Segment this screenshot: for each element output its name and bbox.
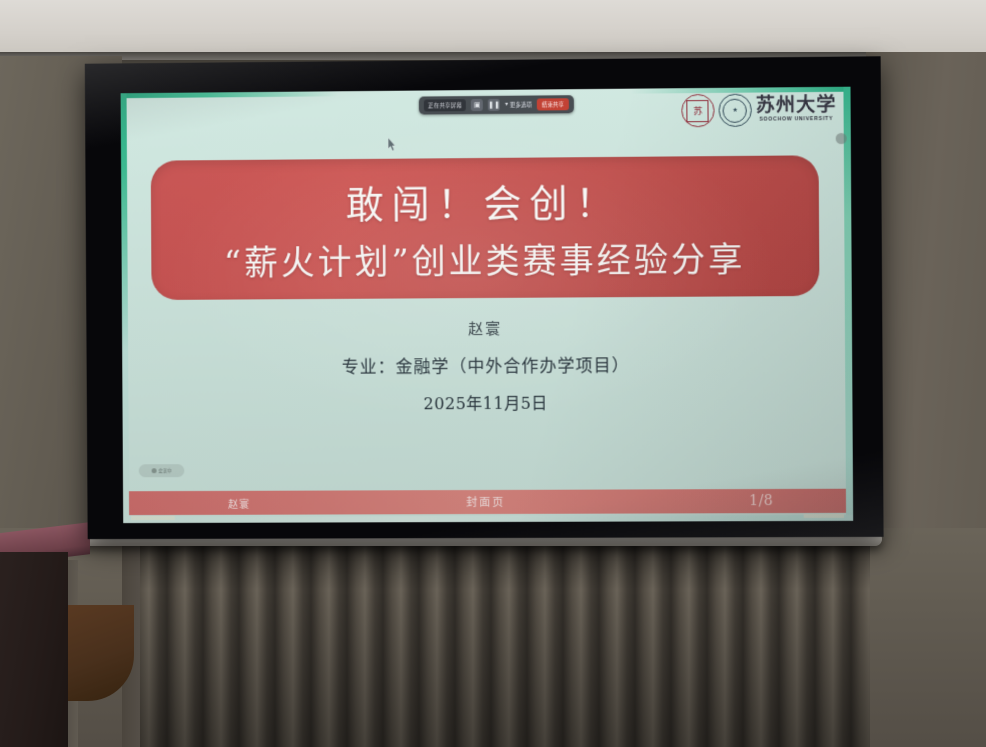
seal-emblem-secondary: ★ <box>718 94 751 127</box>
university-logo: 苏 ★ 苏州大学 SOOCHOW UNIVERSITY <box>681 93 836 127</box>
meeting-status-chip[interactable]: 会议中 <box>139 464 185 477</box>
pause-icon[interactable]: ❚❚ <box>488 99 500 111</box>
projector-screen: 正在共享屏幕 ▣ ❚❚ ▾ 更多选项 结束共享 苏 ★ <box>85 56 884 539</box>
slide-edge-right <box>843 87 853 521</box>
footer-page-number: 1/8 <box>749 493 773 509</box>
seal-secondary-glyph: ★ <box>723 98 747 122</box>
floating-control-icon[interactable] <box>836 133 847 144</box>
more-options-label: 更多选项 <box>510 101 532 109</box>
presenter-major: 专业：金融学（中外合作办学项目） <box>342 351 630 378</box>
meeting-dot-icon <box>151 468 156 473</box>
mouse-cursor-icon <box>387 138 396 152</box>
end-share-button[interactable]: 结束共享 <box>537 98 569 110</box>
projection-glare-overlay <box>121 87 854 523</box>
presentation-date: 2025年11月5日 <box>423 390 547 415</box>
presenter-name: 赵寰 <box>468 318 502 339</box>
share-screen-icon[interactable]: ▣ <box>471 99 483 111</box>
slide-subtitle-block: 赵寰 专业：金融学（中外合作办学项目） 2025年11月5日 <box>122 316 853 416</box>
slide-title-banner: 敢闯！会创！ “薪火计划”创业类赛事经验分享 <box>151 155 820 300</box>
slide-title-line1: 敢闯！会创！ <box>345 172 621 229</box>
university-name-block: 苏州大学 SOOCHOW UNIVERSITY <box>756 96 837 123</box>
footer-tick-right <box>804 514 844 518</box>
footer-author-label: 赵寰 <box>228 495 250 510</box>
university-name-cn: 苏州大学 <box>756 96 837 116</box>
lectern-body <box>0 552 68 747</box>
slide-edge-left <box>121 93 130 523</box>
presentation-slide[interactable]: 正在共享屏幕 ▣ ❚❚ ▾ 更多选项 结束共享 苏 ★ <box>121 87 854 523</box>
ceiling-surface <box>0 0 986 60</box>
slide-shading-overlay <box>121 87 854 523</box>
share-status-label: 正在共享屏幕 <box>424 99 466 111</box>
slide-edge-bottom <box>123 515 853 523</box>
meeting-status-label: 会议中 <box>158 468 171 474</box>
slide-title-line2: “薪火计划”创业类赛事经验分享 <box>224 232 746 284</box>
seal-emblem-primary: 苏 <box>681 94 714 127</box>
more-options-button[interactable]: ▾ 更多选项 <box>505 101 532 109</box>
slide-footer-bar: 封面页 赵寰 1/8 <box>129 489 846 515</box>
seal-primary-glyph: 苏 <box>687 99 709 121</box>
curtain <box>140 545 870 747</box>
footer-tick-left <box>131 516 175 520</box>
conference-room-scene: 正在共享屏幕 ▣ ❚❚ ▾ 更多选项 结束共享 苏 ★ <box>0 0 986 747</box>
university-name-en: SOOCHOW UNIVERSITY <box>759 117 833 123</box>
screen-share-toolbar[interactable]: 正在共享屏幕 ▣ ❚❚ ▾ 更多选项 结束共享 <box>419 95 574 114</box>
chevron-down-icon: ▾ <box>505 102 508 108</box>
